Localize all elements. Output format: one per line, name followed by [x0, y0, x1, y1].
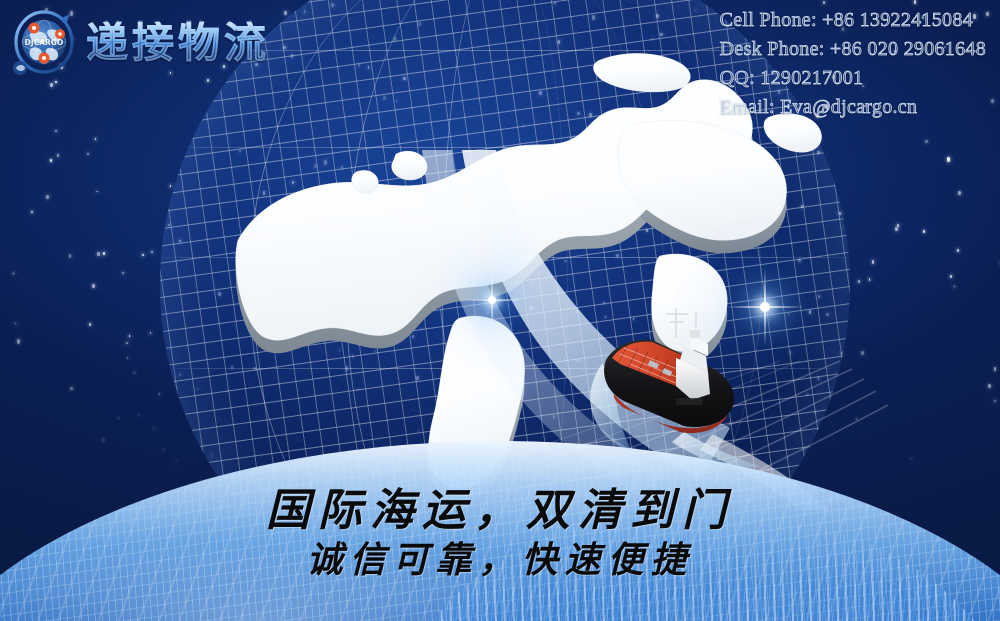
contact-qq: QQ: 1290217001	[720, 64, 986, 93]
lens-flare-icon	[760, 302, 770, 312]
logistics-banner: DJCARGO 递接物流 Cell Phone: +86 13922415084…	[0, 0, 1000, 621]
lens-flare-secondary-icon	[488, 296, 496, 304]
container-ship	[580, 302, 760, 467]
contact-info: Cell Phone: +86 13922415084 Desk Phone: …	[720, 6, 986, 122]
company-logo[interactable]: DJCARGO 递接物流	[8, 4, 270, 82]
contact-cell-phone: Cell Phone: +86 13922415084	[720, 6, 986, 35]
contact-email: Email: Eva@djcargo.cn	[720, 93, 986, 122]
contact-desk-phone: Desk Phone: +86 020 29061648	[720, 35, 986, 64]
brand-name: 递接物流	[86, 22, 270, 64]
globe-logo-icon: DJCARGO	[8, 4, 82, 82]
logo-wordmark: DJCARGO	[25, 38, 64, 47]
